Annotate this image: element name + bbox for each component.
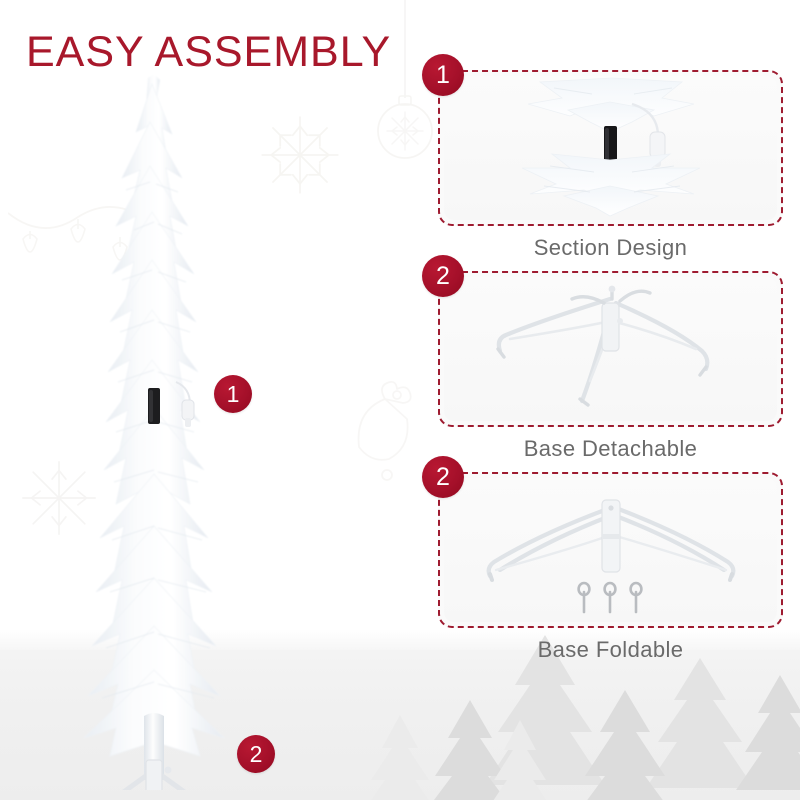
card-number-badge: 2 (422, 255, 464, 297)
detachable-tree-stand-photo (444, 277, 777, 421)
feature-card-section-design[interactable]: 1 Section Design (438, 70, 783, 261)
infographic-canvas: EASY ASSEMBLY (0, 0, 800, 800)
card-frame (438, 70, 783, 226)
card-label: Section Design (438, 235, 783, 261)
card-image-section-joint (444, 76, 777, 220)
christmas-tree-illustration (30, 70, 350, 790)
card-number-badge: 2 (422, 456, 464, 498)
feature-card-list: 1 Section Design (438, 70, 783, 673)
feature-card-base-detachable[interactable]: 2 Base Detachable (438, 271, 783, 462)
product-photo-tree: 1 2 (30, 70, 350, 790)
card-label: Base Foldable (438, 637, 783, 663)
tree-section-joint-photo (444, 76, 777, 220)
photo-marker-1: 1 (214, 375, 252, 413)
card-image-foldable-stand (444, 478, 777, 622)
card-image-detachable-stand (444, 277, 777, 421)
photo-marker-2: 2 (237, 735, 275, 773)
feature-card-base-foldable[interactable]: 2 Base Foldable (438, 472, 783, 663)
card-number-badge: 1 (422, 54, 464, 96)
foldable-tree-stand-with-screws-photo (444, 478, 777, 622)
card-frame (438, 472, 783, 628)
thumb-screw-icon (579, 583, 642, 612)
card-frame (438, 271, 783, 427)
card-label: Base Detachable (438, 436, 783, 462)
